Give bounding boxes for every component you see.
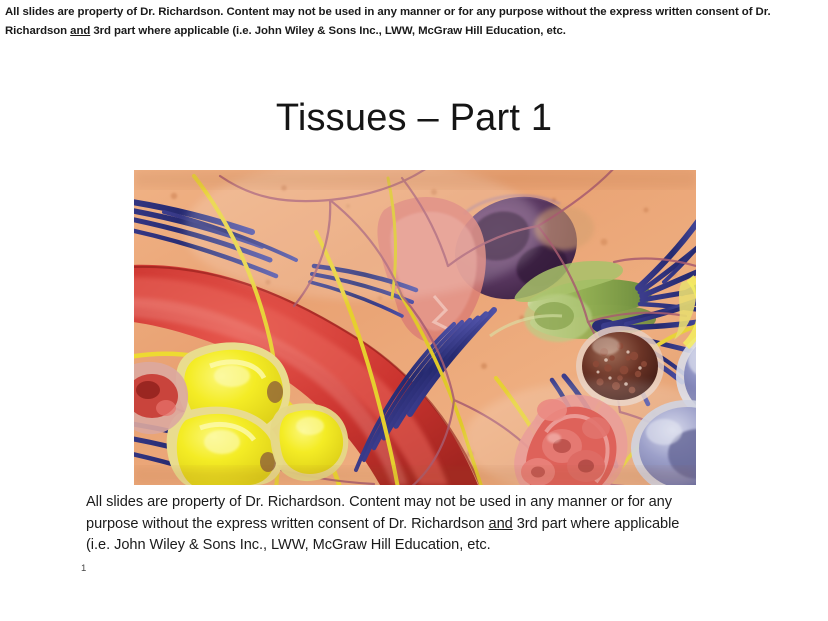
caption-underlined-and: and <box>489 516 513 532</box>
header-copyright-notice: All slides are property of Dr. Richardso… <box>5 3 820 41</box>
slide-caption: All slides are property of Dr. Richardso… <box>86 492 686 557</box>
page-number: 1 <box>81 563 86 575</box>
slide-title: Tissues – Part 1 <box>0 95 828 141</box>
header-notice-underlined-and: and <box>70 25 90 37</box>
connective-tissue-illustration <box>134 170 696 485</box>
connective-tissue-figure-svg <box>134 170 696 485</box>
header-notice-text-part2: 3rd part where applicable (i.e. John Wil… <box>90 25 566 37</box>
